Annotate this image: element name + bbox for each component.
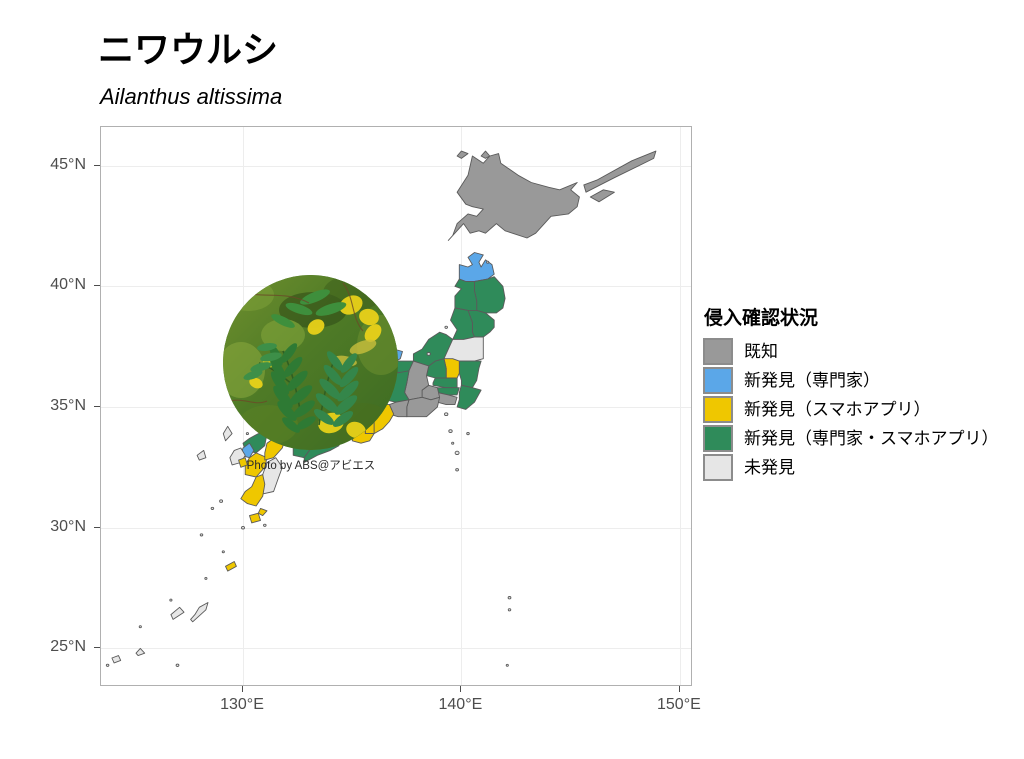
y-tick-label-40°N: 40°N bbox=[28, 276, 86, 294]
y-tick-label-30°N: 30°N bbox=[28, 518, 86, 536]
legend-title: 侵入確認状況 bbox=[704, 308, 1003, 330]
prefecture-長崎県 bbox=[197, 450, 206, 460]
species-photo-inset: Photo by ABS@アビエス bbox=[223, 275, 398, 450]
legend-swatch-4 bbox=[703, 454, 733, 481]
islet-14 bbox=[467, 433, 470, 435]
figure-root: ニワウルシ Ailanthus altissima bbox=[0, 0, 1024, 759]
x-tick-mark bbox=[460, 686, 461, 692]
islet-20 bbox=[445, 326, 448, 328]
legend-label-4: 未発見 bbox=[744, 459, 795, 476]
islet-21 bbox=[427, 353, 430, 356]
islet-12 bbox=[106, 664, 109, 666]
islet-6 bbox=[506, 664, 508, 666]
y-tick-mark bbox=[94, 165, 100, 166]
prefecture-鹿児島県 bbox=[226, 562, 237, 572]
islet-2 bbox=[445, 413, 448, 416]
species-photo bbox=[223, 275, 398, 450]
y-tick-mark bbox=[94, 647, 100, 648]
prefecture-沖縄県 bbox=[191, 603, 208, 622]
islet-25 bbox=[205, 577, 207, 579]
islet-3 bbox=[456, 469, 459, 471]
x-tick-label-130°E: 130°E bbox=[197, 696, 287, 714]
legend-swatch-1 bbox=[703, 367, 733, 394]
islet-18 bbox=[452, 442, 454, 444]
page-title: ニワウルシ bbox=[98, 30, 278, 70]
prefecture-北海道 bbox=[448, 154, 579, 241]
prefecture-青森県 bbox=[459, 253, 494, 282]
legend-swatch-3 bbox=[703, 425, 733, 452]
prefecture-千葉県 bbox=[457, 385, 481, 409]
islet-24 bbox=[170, 599, 172, 601]
y-tick-label-45°N: 45°N bbox=[28, 156, 86, 174]
islet-7 bbox=[220, 500, 223, 503]
islet-11 bbox=[176, 664, 179, 666]
islet-8 bbox=[211, 507, 214, 509]
islet-5 bbox=[508, 609, 511, 611]
islet-19 bbox=[487, 261, 489, 263]
y-tick-mark bbox=[94, 527, 100, 528]
islet-10 bbox=[200, 534, 203, 536]
x-tick-mark bbox=[242, 686, 243, 692]
legend-swatch-0 bbox=[703, 338, 733, 365]
islet-9 bbox=[242, 526, 245, 529]
prefecture-鹿児島県 bbox=[241, 475, 265, 506]
legend-item-list: 既知新発見（専門家）新発見（スマホアプリ）新発見（専門家・スマホアプリ）未発見 bbox=[703, 337, 1003, 482]
legend-label-0: 既知 bbox=[744, 343, 778, 360]
prefecture-鹿児島県 bbox=[258, 508, 267, 515]
legend-label-2: 新発見（スマホアプリ） bbox=[744, 401, 931, 418]
y-tick-mark bbox=[94, 406, 100, 407]
prefecture-鹿児島県 bbox=[250, 513, 261, 523]
prefecture-秋田県 bbox=[455, 279, 477, 310]
x-tick-label-150°E: 150°E bbox=[634, 696, 724, 714]
y-tick-mark bbox=[94, 285, 100, 286]
map-panel: Photo by ABS@アビエス bbox=[100, 126, 692, 686]
islet-26 bbox=[222, 551, 224, 553]
map-legend: 侵入確認状況 既知新発見（専門家）新発見（スマホアプリ）新発見（専門家・スマホア… bbox=[703, 308, 1003, 482]
legend-item-2[interactable]: 新発見（スマホアプリ） bbox=[703, 395, 1003, 424]
legend-item-3[interactable]: 新発見（専門家・スマホアプリ） bbox=[703, 424, 1003, 453]
prefecture-埼玉県 bbox=[433, 378, 457, 388]
photo-credit: Photo by ABS@アビエス bbox=[207, 457, 415, 473]
legend-item-4[interactable]: 未発見 bbox=[703, 453, 1003, 482]
islet-1 bbox=[449, 430, 452, 433]
islet-4 bbox=[508, 597, 511, 599]
prefecture-岩手県 bbox=[475, 277, 506, 313]
x-tick-label-140°E: 140°E bbox=[415, 696, 505, 714]
legend-label-3: 新発見（専門家・スマホアプリ） bbox=[744, 430, 999, 447]
islet-0 bbox=[455, 451, 459, 454]
legend-item-1[interactable]: 新発見（専門家） bbox=[703, 366, 1003, 395]
legend-label-1: 新発見（専門家） bbox=[744, 372, 880, 389]
page-subtitle: Ailanthus altissima bbox=[100, 85, 282, 109]
y-tick-label-35°N: 35°N bbox=[28, 397, 86, 415]
prefecture-茨城県 bbox=[459, 361, 481, 388]
prefecture-北海道 bbox=[457, 151, 468, 158]
x-tick-mark bbox=[679, 686, 680, 692]
islet-13 bbox=[264, 524, 267, 526]
prefecture-静岡県 bbox=[407, 397, 440, 416]
prefecture-沖縄県 bbox=[112, 656, 121, 663]
prefecture-沖縄県 bbox=[136, 648, 145, 655]
legend-item-0[interactable]: 既知 bbox=[703, 337, 1003, 366]
y-tick-label-25°N: 25°N bbox=[28, 638, 86, 656]
prefecture-沖縄県 bbox=[171, 607, 184, 619]
legend-swatch-2 bbox=[703, 396, 733, 423]
islet-23 bbox=[139, 626, 141, 628]
prefecture-北海道 bbox=[590, 190, 614, 202]
prefecture-北海道 bbox=[584, 151, 656, 192]
